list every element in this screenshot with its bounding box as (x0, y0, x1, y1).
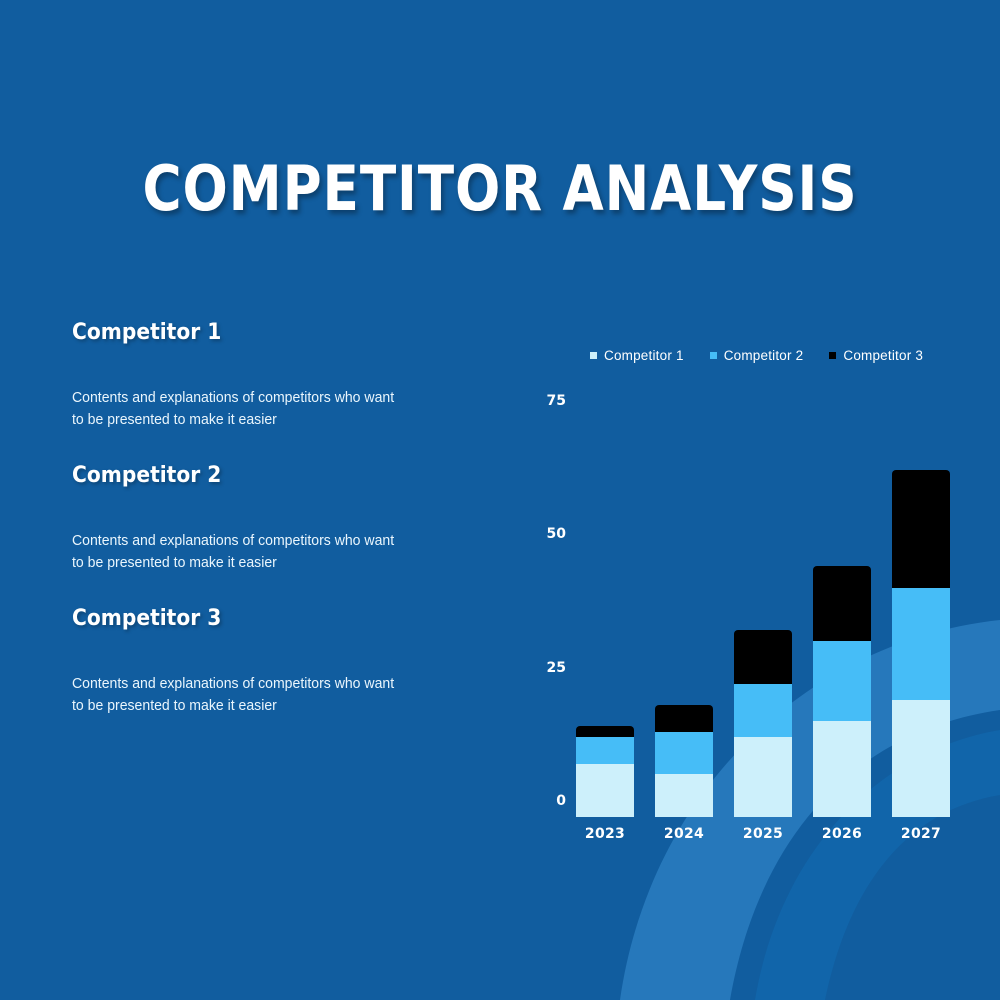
legend-label: Competitor 1 (604, 348, 684, 363)
legend-item-1[interactable]: Competitor 1 (590, 348, 684, 363)
bar-column-2023[interactable] (576, 417, 634, 817)
bar-segment-competitor-3 (813, 566, 871, 641)
competitor-2-body-line-1: Contents and explanations of competitors… (72, 530, 407, 552)
competitor-3-heading: Competitor 3 (72, 606, 440, 631)
competitor-3-body-line-2: to be presented to make it easier (72, 695, 407, 717)
legend-item-2[interactable]: Competitor 2 (710, 348, 804, 363)
bar-segment-competitor-1 (813, 721, 871, 817)
x-axis: 20232024202520262027 (576, 826, 950, 852)
competitor-2-body-line-2: to be presented to make it easier (72, 552, 407, 574)
y-axis-tick-label: 0 (556, 793, 566, 809)
competitor-descriptions: Competitor 1 Contents and explanations o… (72, 320, 472, 749)
legend-label: Competitor 2 (724, 348, 804, 363)
x-axis-tick-label: 2027 (892, 826, 950, 852)
x-axis-tick-label: 2023 (576, 826, 634, 852)
bar-group (576, 417, 950, 817)
competitor-block-2: Competitor 2 Contents and explanations o… (72, 463, 472, 574)
bar-segment-competitor-3 (892, 470, 950, 587)
competitor-block-3: Competitor 3 Contents and explanations o… (72, 606, 472, 717)
competitor-1-body: Contents and explanations of competitors… (72, 387, 407, 431)
bar-segment-competitor-2 (576, 737, 634, 764)
y-axis-tick-label: 25 (547, 660, 566, 676)
x-axis-tick-label: 2024 (655, 826, 713, 852)
competitor-1-heading: Competitor 1 (72, 320, 440, 345)
competitor-block-1: Competitor 1 Contents and explanations o… (72, 320, 472, 431)
page-title: COMPETITOR ANALYSIS (70, 152, 930, 225)
bar-column-2025[interactable] (734, 417, 792, 817)
y-axis-tick-label: 75 (547, 393, 566, 409)
bar-segment-competitor-2 (813, 641, 871, 721)
legend-swatch-icon (590, 352, 597, 359)
bar-segment-competitor-1 (892, 700, 950, 817)
bar-column-2027[interactable] (892, 417, 950, 817)
bar-segment-competitor-2 (892, 588, 950, 700)
bar-column-2026[interactable] (813, 417, 871, 817)
x-axis-tick-label: 2025 (734, 826, 792, 852)
bar-segment-competitor-1 (655, 774, 713, 817)
competitor-1-body-line-1: Contents and explanations of competitors… (72, 387, 407, 409)
bar-column-2024[interactable] (655, 417, 713, 817)
competitor-3-body: Contents and explanations of competitors… (72, 673, 407, 717)
bar-segment-competitor-2 (655, 732, 713, 775)
x-axis-tick-label: 2026 (813, 826, 871, 852)
slide-canvas: COMPETITOR ANALYSIS Competitor 1 Content… (0, 0, 1000, 1000)
bar-segment-competitor-1 (734, 737, 792, 817)
legend-label: Competitor 3 (843, 348, 923, 363)
bar-segment-competitor-2 (734, 684, 792, 737)
legend-item-3[interactable]: Competitor 3 (829, 348, 923, 363)
competitor-1-body-line-2: to be presented to make it easier (72, 409, 407, 431)
y-axis-tick-label: 50 (547, 526, 566, 542)
bar-segment-competitor-3 (655, 705, 713, 732)
legend-swatch-icon (829, 352, 836, 359)
competitor-bar-chart: Competitor 1Competitor 2Competitor 3 025… (520, 330, 960, 900)
y-axis: 0255075 (520, 460, 566, 860)
bar-segment-competitor-1 (576, 764, 634, 817)
bar-segment-competitor-3 (734, 630, 792, 683)
competitor-2-heading: Competitor 2 (72, 463, 440, 488)
competitor-2-body: Contents and explanations of competitors… (72, 530, 407, 574)
legend-swatch-icon (710, 352, 717, 359)
chart-plot-area: 0255075 20232024202520262027 (520, 370, 960, 860)
bar-segment-competitor-3 (576, 726, 634, 737)
competitor-3-body-line-1: Contents and explanations of competitors… (72, 673, 407, 695)
chart-legend: Competitor 1Competitor 2Competitor 3 (590, 348, 923, 363)
